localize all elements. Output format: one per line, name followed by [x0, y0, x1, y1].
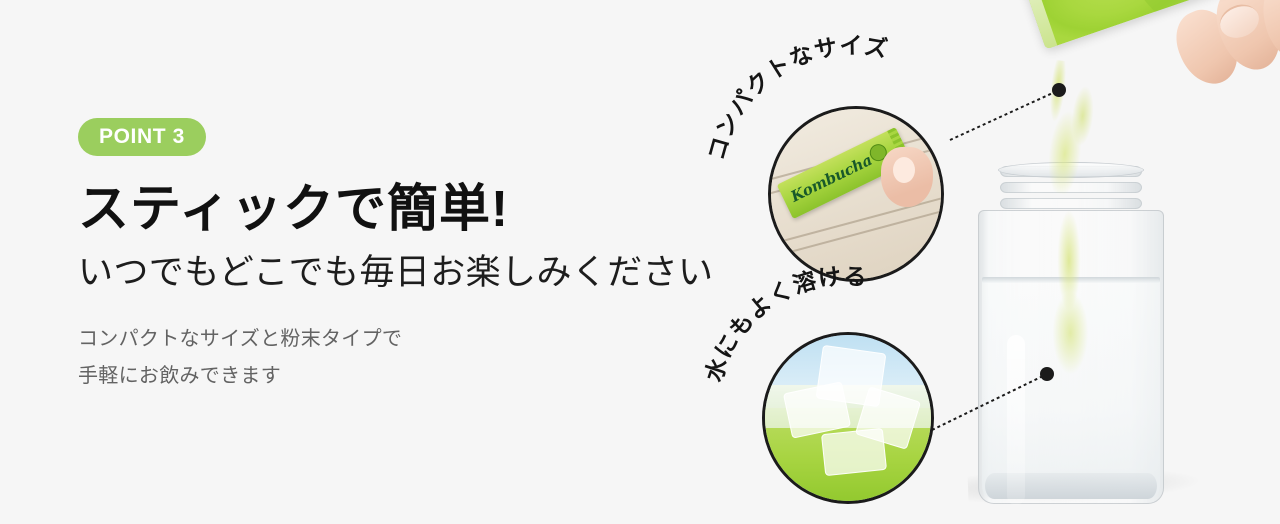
tote-bag-photo: Kombucha: [771, 109, 941, 279]
inset-iced-drink: [762, 332, 934, 504]
point-badge: POINT 3: [78, 118, 206, 156]
subtitle: いつでもどこでも毎日お楽しみください: [78, 251, 738, 295]
thumb: [881, 147, 933, 207]
body-line-1: コンパクトなサイズと粉末タイプで: [78, 321, 738, 358]
page-title: スティックで簡単!: [78, 180, 738, 237]
jar-thread: [1000, 198, 1142, 209]
jar-thread: [1000, 182, 1142, 193]
iced-drink-photo: [765, 335, 931, 501]
hand: [1156, 0, 1280, 108]
glass-jar: [978, 166, 1164, 504]
connector-line-compact: [950, 91, 1057, 140]
text-column: POINT 3 スティックで簡単! いつでもどこでも毎日お楽しみください コンパ…: [78, 118, 738, 395]
jar-rim: [998, 162, 1144, 178]
body-line-2: 手軽にお飲みできます: [78, 358, 738, 395]
jar-body: [978, 210, 1164, 504]
ice-cube: [821, 428, 887, 476]
jar-highlight: [1007, 335, 1025, 505]
jar-waterline: [982, 277, 1160, 283]
promo-banner: POINT 3 スティックで簡単! いつでもどこでも毎日お楽しみください コンパ…: [0, 0, 1280, 524]
stick-pack-open-edge: [1014, 0, 1057, 49]
body-copy: コンパクトなサイズと粉末タイプで 手軽にお飲みできます: [78, 321, 738, 395]
product-illustration: TEAZEN Kombucha 콤부차 Kombucha: [700, 0, 1280, 524]
connector-dot-compact: [1052, 83, 1066, 97]
inset-tote-bag: Kombucha: [768, 106, 944, 282]
